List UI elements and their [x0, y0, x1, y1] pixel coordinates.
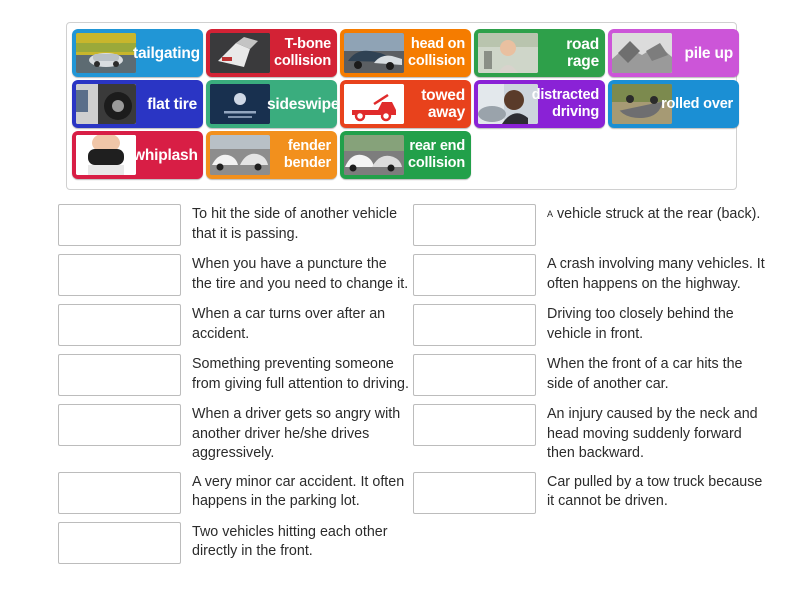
answer-drop-box[interactable]	[413, 404, 536, 446]
tile-sideswiped[interactable]: sideswiped	[206, 80, 337, 128]
definition-item: To hit the side of another vehicle that …	[58, 204, 410, 246]
definition-text: When the front of a car hits the side of…	[547, 354, 765, 394]
tile-row: whiplashfender benderrear end collision	[72, 131, 731, 179]
definition-text: A vehicle struck at the rear (back).	[547, 204, 760, 225]
multi-car-pileup-photo	[612, 33, 672, 73]
definition-column-left: To hit the side of another vehicle that …	[58, 204, 410, 572]
answer-drop-box[interactable]	[413, 354, 536, 396]
tile-label: sideswiped	[267, 96, 337, 113]
tile-label: whiplash	[133, 147, 203, 164]
tile-row: tailgatingT-bone collisionhead on collis…	[72, 29, 731, 77]
tile-rear-end-collision[interactable]: rear end collision	[340, 131, 471, 179]
definition-item: When the front of a car hits the side of…	[413, 354, 765, 396]
tile-t-bone-collision[interactable]: T-bone collision	[206, 29, 337, 77]
answer-drop-box[interactable]	[413, 204, 536, 246]
definition-item: Driving too closely behind the vehicle i…	[413, 304, 765, 346]
tile-flat-tire[interactable]: flat tire	[72, 80, 203, 128]
definition-column-right: A vehicle struck at the rear (back).A cr…	[413, 204, 765, 522]
angry-driver-photo	[478, 33, 538, 73]
tow-truck-icon	[344, 84, 404, 124]
definition-item: Car pulled by a tow truck because it can…	[413, 472, 765, 514]
sideswipe-diagram	[210, 84, 270, 124]
flat-tire-photo	[76, 84, 136, 124]
definition-item: A very minor car accident. It often happ…	[58, 472, 410, 514]
definition-item: When you have a puncture the the tire an…	[58, 254, 410, 296]
tile-label: T-bone collision	[259, 36, 337, 70]
answer-drop-box[interactable]	[58, 304, 181, 346]
tile-rolled-over[interactable]: rolled over	[608, 80, 739, 128]
tile-label: rear end collision	[393, 138, 471, 172]
tile-tailgating[interactable]: tailgating	[72, 29, 203, 77]
answer-drop-box[interactable]	[413, 254, 536, 296]
answer-drop-box[interactable]	[58, 254, 181, 296]
tile-label: flat tire	[147, 96, 203, 113]
definition-text: When a driver gets so angry with another…	[192, 404, 410, 464]
definition-text: Two vehicles hitting each other directly…	[192, 522, 410, 562]
answer-drop-box[interactable]	[58, 204, 181, 246]
tile-row: flat tiresideswipedtowed awaydistracted …	[72, 80, 731, 128]
answer-drop-box[interactable]	[413, 304, 536, 346]
answer-drop-box[interactable]	[413, 472, 536, 514]
tile-head-on-collision[interactable]: head on collision	[340, 29, 471, 77]
definition-text: A crash involving many vehicles. It ofte…	[547, 254, 765, 294]
tile-pile-up[interactable]: pile up	[608, 29, 739, 77]
definition-text: Something preventing someone from giving…	[192, 354, 410, 394]
tile-label: fender bender	[259, 138, 337, 172]
tile-label: tailgating	[133, 45, 203, 62]
tile-road-rage[interactable]: road rage	[474, 29, 605, 77]
definition-text: When you have a puncture the the tire an…	[192, 254, 410, 294]
definition-item: An injury caused by the neck and head mo…	[413, 404, 765, 464]
tile-label: head on collision	[393, 36, 471, 70]
tile-label: towed away	[401, 87, 471, 121]
tile-towed-away[interactable]: towed away	[340, 80, 471, 128]
car-on-road-photo	[76, 33, 136, 73]
definition-text: When a car turns over after an accident.	[192, 304, 410, 344]
answer-drop-box[interactable]	[58, 472, 181, 514]
tile-label: pile up	[684, 45, 739, 62]
definition-text: An injury caused by the neck and head mo…	[547, 404, 765, 464]
definition-item: When a driver gets so angry with another…	[58, 404, 410, 464]
answer-drop-box[interactable]	[58, 354, 181, 396]
answer-drop-box[interactable]	[58, 522, 181, 564]
answer-drop-box[interactable]	[58, 404, 181, 446]
definition-item: A vehicle struck at the rear (back).	[413, 204, 765, 246]
tile-bank: tailgatingT-bone collisionhead on collis…	[66, 22, 737, 190]
tile-distracted-driving[interactable]: distracted driving	[474, 80, 605, 128]
tile-label: road rage	[535, 36, 605, 70]
definition-text: A very minor car accident. It often happ…	[192, 472, 410, 512]
definition-text: Car pulled by a tow truck because it can…	[547, 472, 765, 512]
definition-text: Driving too closely behind the vehicle i…	[547, 304, 765, 344]
definition-item: Something preventing someone from giving…	[58, 354, 410, 396]
definition-text: To hit the side of another vehicle that …	[192, 204, 410, 244]
tile-whiplash[interactable]: whiplash	[72, 131, 203, 179]
definition-item: Two vehicles hitting each other directly…	[58, 522, 410, 564]
definition-item: When a car turns over after an accident.	[58, 304, 410, 346]
neck-brace-photo	[76, 135, 136, 175]
definition-item: A crash involving many vehicles. It ofte…	[413, 254, 765, 296]
tile-fender-bender[interactable]: fender bender	[206, 131, 337, 179]
tile-label: rolled over	[661, 96, 739, 113]
tile-label: distracted driving	[527, 87, 605, 121]
